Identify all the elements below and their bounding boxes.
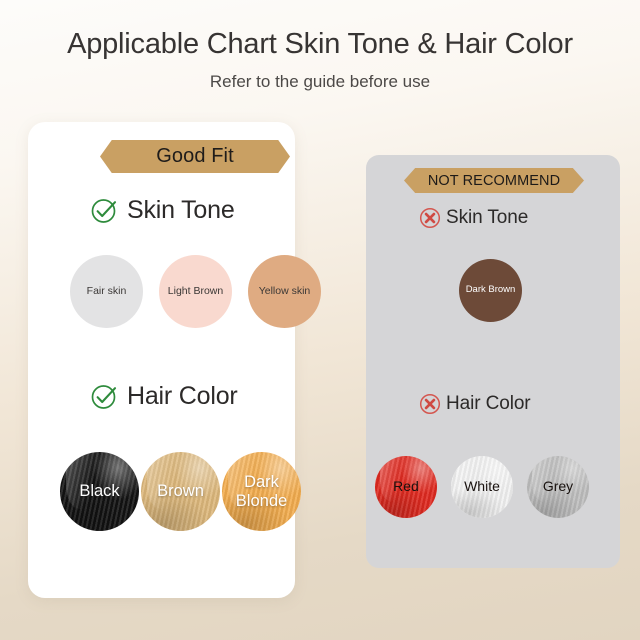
good-fit-banner-label: Good Fit [156,145,234,168]
swatch-fair-skin[interactable]: Fair skin [70,255,143,328]
swatch-light-brown[interactable]: Light Brown [159,255,232,328]
bad-skin-swatch-row: Dark Brown [459,259,522,322]
not-recommend-banner: NOT RECOMMEND [404,168,584,193]
swatch-label: Red [390,479,422,495]
swatch-yellow-skin[interactable]: Yellow skin [248,255,321,328]
swatch-label: Brown [154,482,207,500]
swatch-label: Fair skin [84,286,130,298]
check-circle-icon [90,382,119,411]
swatch-white[interactable]: White [451,456,513,518]
good-fit-banner: Good Fit [100,140,290,173]
swatch-label: Grey [540,479,576,495]
x-circle-icon [418,206,442,230]
page-header: Applicable Chart Skin Tone & Hair Color … [0,0,640,92]
bad-hair-color-label: Hair Color [446,393,531,415]
page-title: Applicable Chart Skin Tone & Hair Color [0,28,640,61]
swatch-label: Light Brown [165,286,226,298]
good-skin-swatch-row: Fair skin Light Brown Yellow skin [70,255,321,328]
swatch-brown[interactable]: Brown [141,452,220,531]
bad-hair-color-heading: Hair Color [418,392,531,416]
swatch-dark-blonde[interactable]: Dark Blonde [222,452,301,531]
swatch-label: Dark Brown [463,285,519,296]
swatch-label: Yellow skin [256,286,314,298]
swatch-black[interactable]: Black [60,452,139,531]
swatch-grey[interactable]: Grey [527,456,589,518]
swatch-red[interactable]: Red [375,456,437,518]
good-hair-color-heading: Hair Color [90,382,238,411]
not-recommend-banner-label: NOT RECOMMEND [428,173,560,189]
bad-hair-swatch-row: Red White Grey [375,456,589,518]
swatch-label: White [461,479,503,495]
good-hair-color-label: Hair Color [127,382,238,411]
swatch-label: Black [76,482,122,500]
bad-skin-tone-label: Skin Tone [446,207,528,229]
swatch-label: Dark Blonde [222,473,301,510]
swatch-dark-brown[interactable]: Dark Brown [459,259,522,322]
bad-skin-tone-heading: Skin Tone [418,206,528,230]
good-skin-tone-heading: Skin Tone [90,196,235,225]
good-hair-swatch-row: Black Brown Dark Blonde [60,452,301,531]
good-skin-tone-label: Skin Tone [127,196,235,225]
check-circle-icon [90,196,119,225]
page-subtitle: Refer to the guide before use [0,72,640,92]
x-circle-icon [418,392,442,416]
